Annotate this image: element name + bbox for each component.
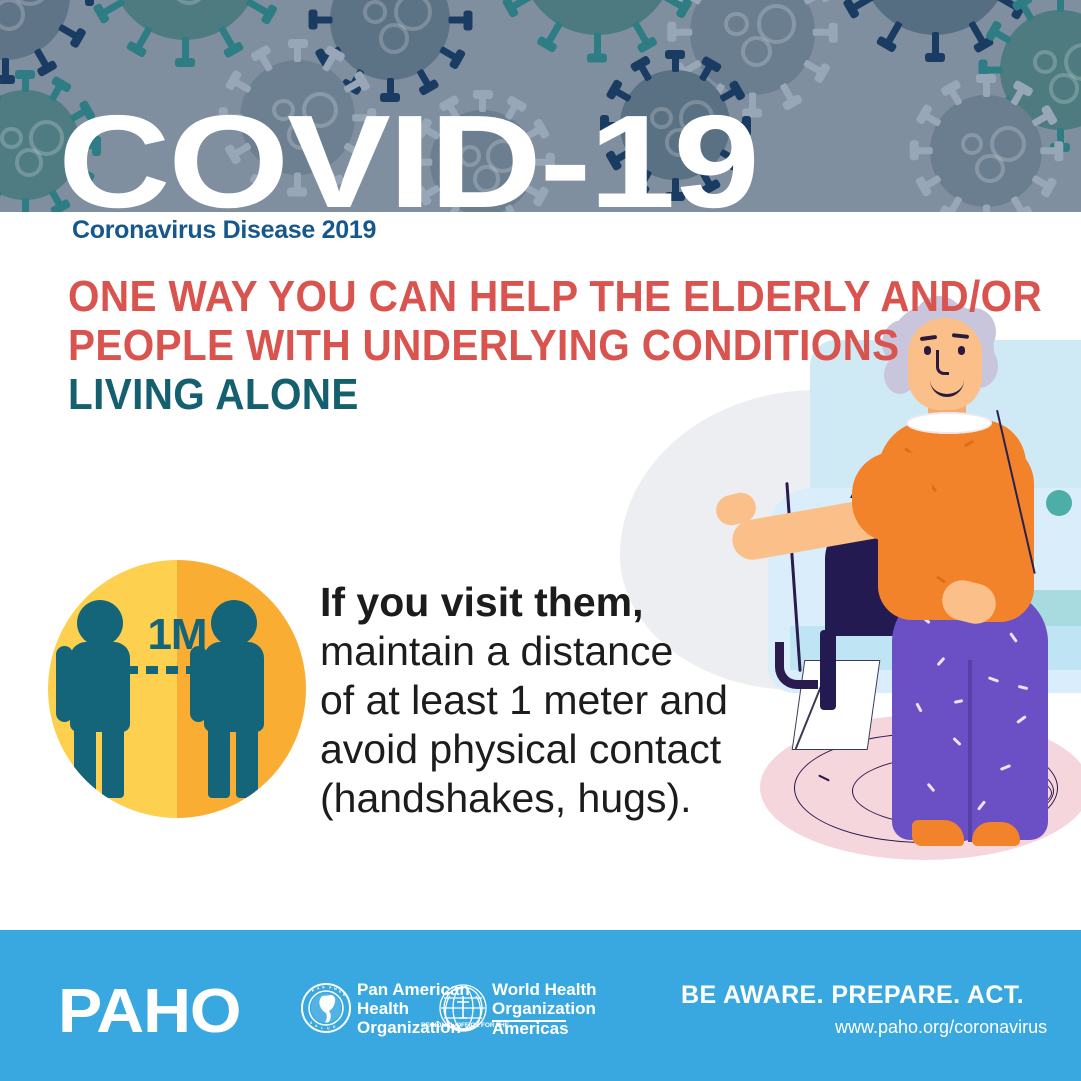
paho-wordmark: PAHO bbox=[58, 976, 240, 1047]
svg-text:U: U bbox=[327, 1026, 330, 1030]
body-line-4: avoid physical contact bbox=[320, 725, 780, 774]
social-distance-icon: 1M bbox=[48, 560, 306, 818]
eye-right bbox=[958, 346, 965, 355]
footer-tagline: BE AWARE. PREPARE. ACT. bbox=[681, 981, 1024, 1010]
paho-globe-emblem: PAN AME R SAL UD bbox=[300, 982, 352, 1034]
body-bold-lead: If you visit them, bbox=[320, 578, 780, 627]
virus-particle bbox=[0, 0, 70, 60]
distance-dashed-line bbox=[126, 666, 232, 674]
covid19-infographic-poster: COVID-19 Coronavirus Disease 2019 ONE WA… bbox=[0, 0, 1081, 1081]
distance-label: 1M bbox=[132, 610, 222, 660]
cat-leg bbox=[820, 630, 836, 710]
headline-line-2: PEOPLE WITH UNDERLYING CONDITIONS bbox=[68, 321, 804, 370]
cane-hook bbox=[775, 642, 818, 689]
who-organization-name: World Health Organization bbox=[492, 980, 597, 1018]
body-line-5: (handshakes, hugs). bbox=[320, 774, 780, 823]
pearl-collar bbox=[906, 412, 992, 434]
shoe-left bbox=[912, 820, 964, 846]
body-line-3: of at least 1 meter and bbox=[320, 676, 780, 725]
nose bbox=[936, 350, 949, 375]
who-org-line-2: Organization bbox=[492, 999, 597, 1018]
svg-text:P: P bbox=[312, 989, 315, 993]
teal-accent-dot bbox=[1046, 490, 1072, 516]
virus-particle bbox=[930, 95, 1042, 207]
footer-url[interactable]: www.paho.org/coronavirus bbox=[835, 1017, 1047, 1038]
svg-text:D: D bbox=[333, 1025, 336, 1029]
svg-text:M: M bbox=[334, 987, 337, 991]
svg-text:A: A bbox=[315, 1024, 318, 1028]
page-title: COVID-19 bbox=[58, 96, 758, 212]
eye-left bbox=[924, 346, 931, 355]
woman-sleeve-left bbox=[852, 452, 932, 542]
header-banner: COVID-19 bbox=[0, 0, 1081, 212]
page-subtitle: Coronavirus Disease 2019 bbox=[72, 216, 376, 245]
who-americas-label: Americas bbox=[492, 1019, 569, 1039]
headline-line-1: ONE WAY YOU CAN HELP THE ELDERLY AND/OR bbox=[68, 272, 804, 321]
body-line-2: maintain a distance bbox=[320, 627, 780, 676]
svg-text:S: S bbox=[310, 1021, 313, 1025]
headline: ONE WAY YOU CAN HELP THE ELDERLY AND/OR … bbox=[68, 272, 868, 419]
svg-text:N: N bbox=[322, 985, 325, 989]
body-text: If you visit them, maintain a distance o… bbox=[320, 578, 780, 823]
shoe-right bbox=[972, 822, 1020, 846]
svg-text:A: A bbox=[317, 987, 320, 991]
virus-particle bbox=[110, 0, 260, 40]
svg-text:A: A bbox=[329, 986, 332, 990]
svg-text:L: L bbox=[321, 1026, 323, 1030]
who-org-line-1: World Health bbox=[492, 980, 597, 999]
headline-line-3: LIVING ALONE bbox=[68, 370, 804, 419]
pant-leg-seam bbox=[968, 660, 972, 842]
virus-particle bbox=[520, 0, 675, 35]
